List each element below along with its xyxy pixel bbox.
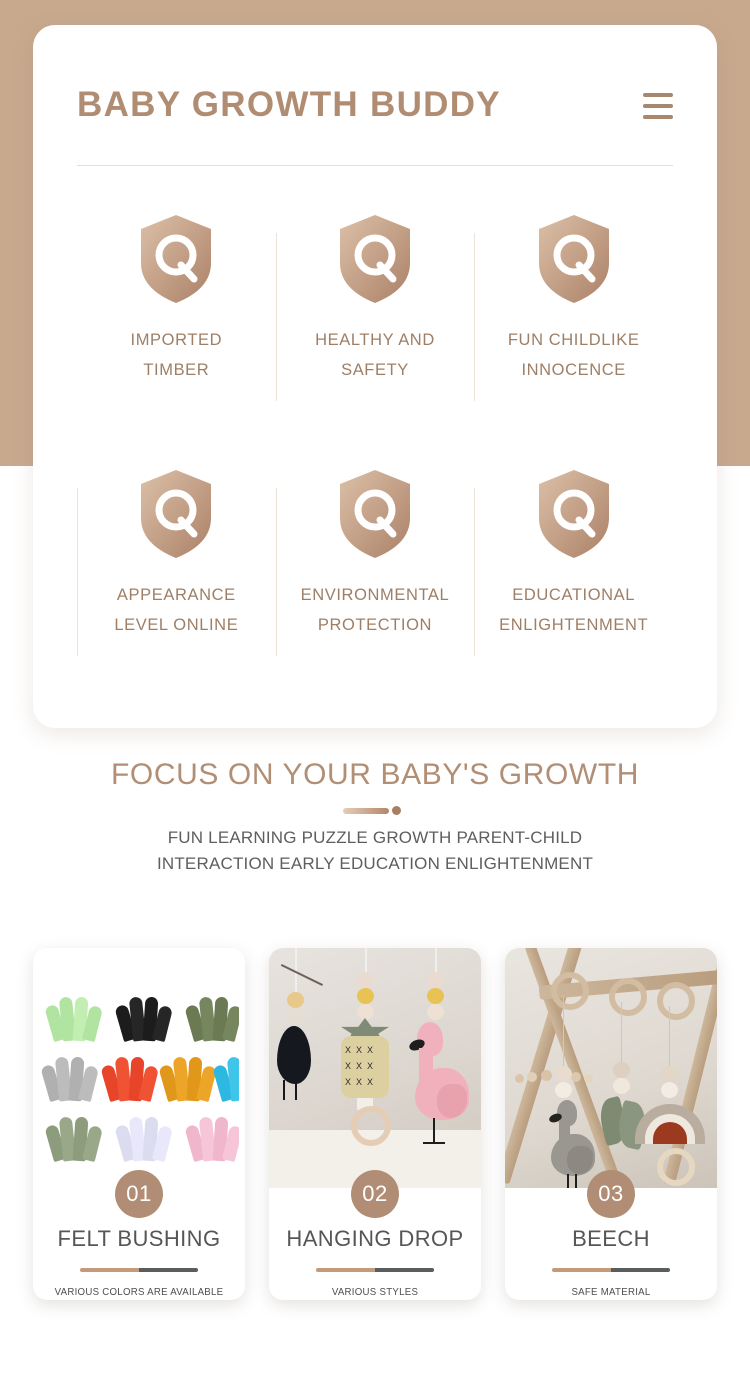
product-caption: VARIOUS COLORS ARE AVAILABLE bbox=[41, 1286, 236, 1298]
felt-swatch bbox=[47, 993, 103, 1041]
feature-grid: IMPORTED TIMBER HEALTHY AND SAFETY FUN C… bbox=[77, 191, 673, 701]
section-heading-block: FOCUS ON YOUR BABY'S GROWTH FUN LEARNING… bbox=[0, 752, 750, 877]
quality-shield-icon bbox=[137, 213, 215, 305]
feature-item-imported-timber[interactable]: IMPORTED TIMBER bbox=[77, 191, 276, 446]
divider-bar bbox=[343, 808, 389, 814]
progress-filled bbox=[552, 1268, 611, 1272]
feature-item-educational-enlightenment[interactable]: EDUCATIONAL ENLIGHTENMENT bbox=[474, 446, 673, 701]
product-caption: VARIOUS STYLES bbox=[277, 1286, 472, 1298]
quality-shield-icon bbox=[336, 468, 414, 560]
felt-swatch bbox=[187, 1113, 239, 1161]
product-progress-bar bbox=[552, 1268, 670, 1272]
progress-filled bbox=[316, 1268, 375, 1272]
wood-ring-icon bbox=[609, 978, 647, 1016]
feature-item-fun-childlike-innocence[interactable]: FUN CHILDLIKE INNOCENCE bbox=[474, 191, 673, 446]
feature-label: IMPORTED TIMBER bbox=[131, 325, 223, 385]
product-card-felt-bushing[interactable]: 01 FELT BUSHING VARIOUS COLORS ARE AVAIL… bbox=[33, 948, 245, 1300]
product-card-beech[interactable]: 03 BEECH SAFE MATERIAL bbox=[505, 948, 717, 1300]
page-title: BABY GROWTH BUDDY bbox=[77, 85, 501, 125]
product-number-badge: 02 bbox=[351, 1170, 399, 1218]
felt-swatch bbox=[47, 1113, 103, 1161]
product-image-hanging-toys: XXXXXXXXX bbox=[269, 948, 481, 1188]
section-title: FOCUS ON YOUR BABY'S GROWTH bbox=[0, 752, 750, 798]
product-progress-bar bbox=[80, 1268, 198, 1272]
section-divider-ornament bbox=[343, 806, 407, 815]
product-title: BEECH bbox=[505, 1226, 717, 1252]
product-caption: SAFE MATERIAL bbox=[513, 1286, 708, 1298]
quality-shield-icon bbox=[336, 213, 414, 305]
feature-item-appearance-level-online[interactable]: APPEARANCE LEVEL ONLINE bbox=[77, 446, 276, 701]
product-number-badge: 01 bbox=[115, 1170, 163, 1218]
quality-shield-icon bbox=[535, 468, 613, 560]
feature-label: ENVIRONMENTAL PROTECTION bbox=[301, 580, 450, 640]
wood-ring-icon bbox=[551, 972, 589, 1010]
felt-swatch bbox=[161, 1053, 217, 1101]
progress-remaining bbox=[375, 1268, 434, 1272]
progress-remaining bbox=[611, 1268, 670, 1272]
divider-dot bbox=[392, 806, 401, 815]
section-subtitle: FUN LEARNING PUZZLE GROWTH PARENT-CHILD … bbox=[0, 825, 750, 877]
quality-shield-icon bbox=[137, 468, 215, 560]
feature-label: APPEARANCE LEVEL ONLINE bbox=[114, 580, 238, 640]
header-divider bbox=[77, 165, 673, 166]
hamburger-icon[interactable] bbox=[643, 93, 673, 119]
product-title: HANGING DROP bbox=[269, 1226, 481, 1252]
felt-swatch bbox=[215, 1053, 239, 1101]
progress-filled bbox=[80, 1268, 139, 1272]
felt-swatch bbox=[187, 993, 239, 1041]
felt-swatch-grid bbox=[47, 993, 239, 1165]
progress-remaining bbox=[139, 1268, 198, 1272]
feature-label: HEALTHY AND SAFETY bbox=[315, 325, 435, 385]
felt-swatch bbox=[117, 1113, 173, 1161]
product-card-list: 01 FELT BUSHING VARIOUS COLORS ARE AVAIL… bbox=[33, 948, 717, 1300]
feature-label: EDUCATIONAL ENLIGHTENMENT bbox=[499, 580, 648, 640]
product-image-felt-swatches bbox=[39, 955, 239, 1188]
product-progress-bar bbox=[316, 1268, 434, 1272]
hero-card: BABY GROWTH BUDDY IMPORTED TIMBER bbox=[33, 25, 717, 728]
quality-shield-icon bbox=[535, 213, 613, 305]
feature-item-healthy-and-safety[interactable]: HEALTHY AND SAFETY bbox=[276, 191, 475, 446]
feature-label: FUN CHILDLIKE INNOCENCE bbox=[508, 325, 640, 385]
product-image-play-gym bbox=[505, 948, 717, 1188]
hero-header: BABY GROWTH BUDDY bbox=[77, 59, 673, 151]
product-title: FELT BUSHING bbox=[33, 1226, 245, 1252]
felt-swatch bbox=[103, 1053, 159, 1101]
felt-swatch bbox=[117, 993, 173, 1041]
product-number-badge: 03 bbox=[587, 1170, 635, 1218]
feature-item-environmental-protection[interactable]: ENVIRONMENTAL PROTECTION bbox=[276, 446, 475, 701]
product-card-hanging-drop[interactable]: XXXXXXXXX 02 HANGING DROP VARIOUS STYLES bbox=[269, 948, 481, 1300]
wood-ring-icon bbox=[657, 982, 695, 1020]
felt-swatch bbox=[43, 1053, 99, 1101]
